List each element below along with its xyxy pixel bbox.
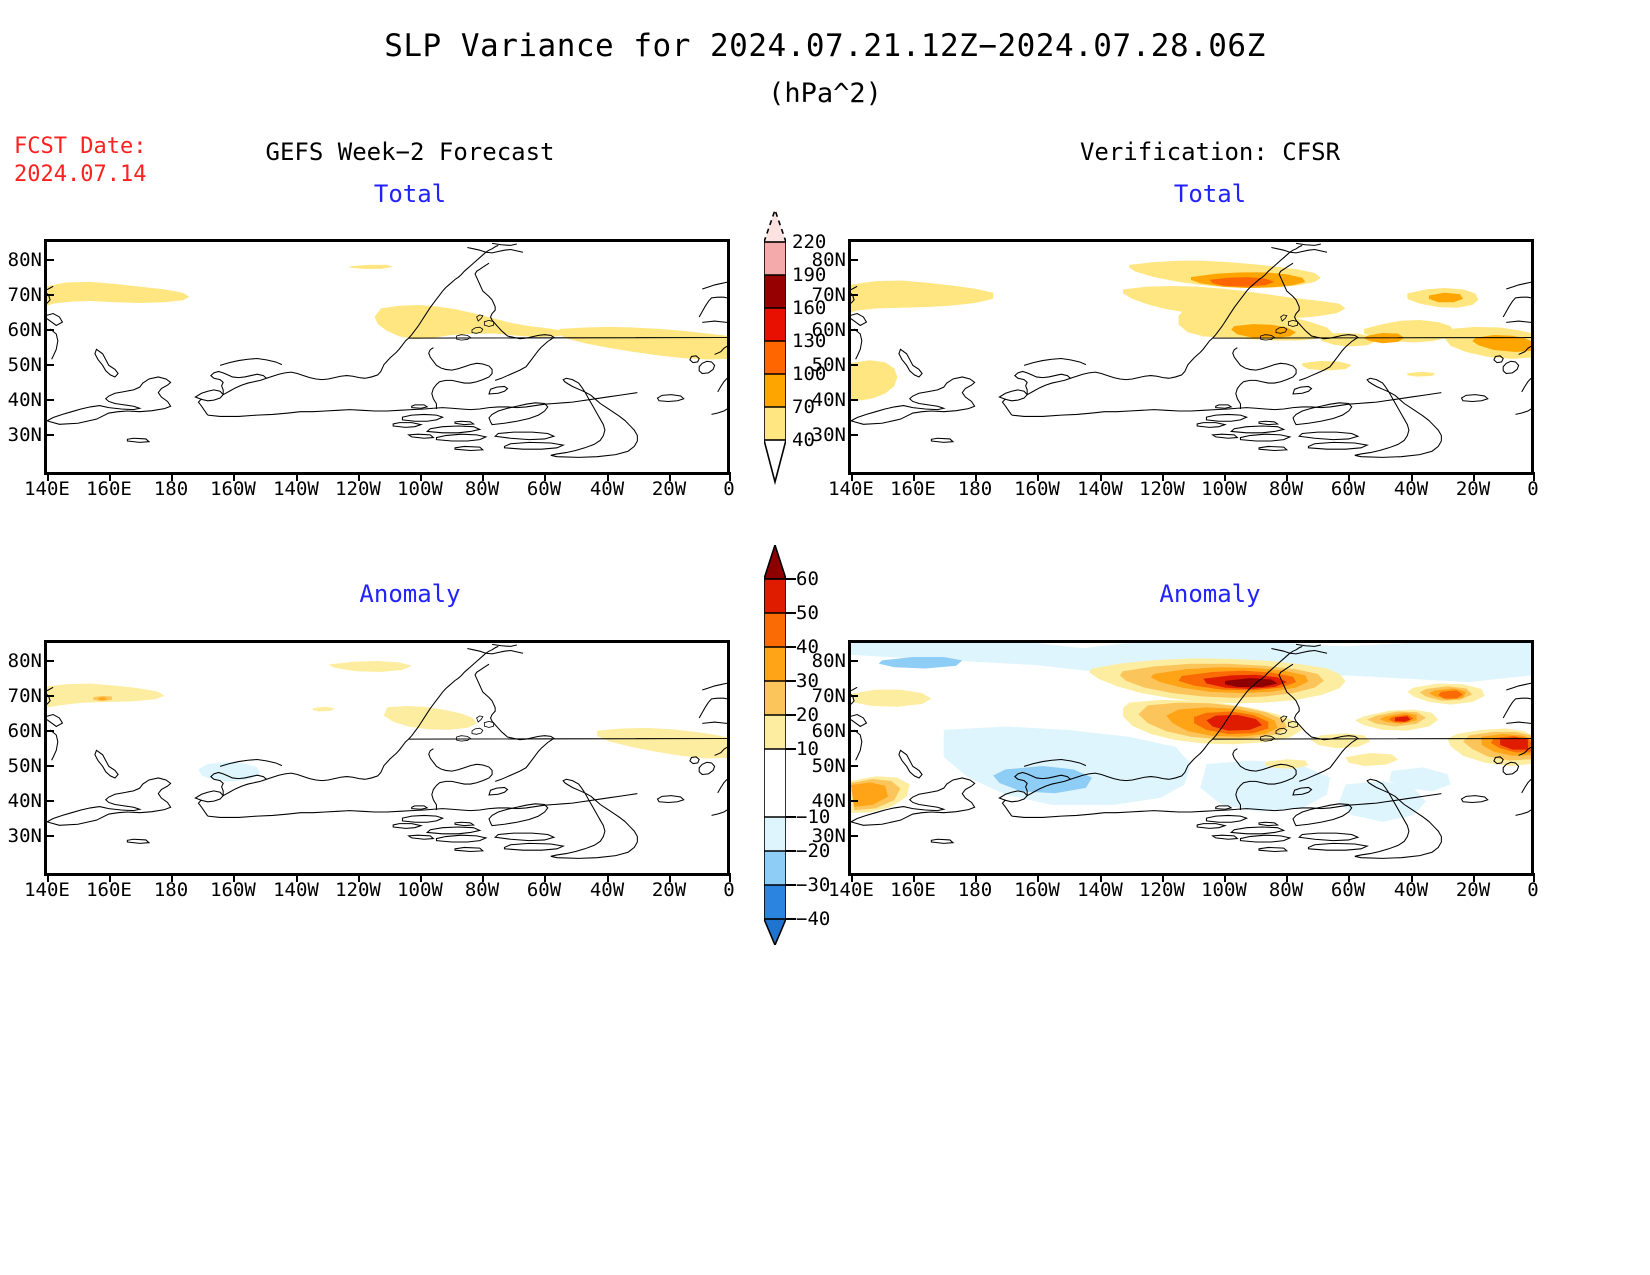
panel-label-gefs-anomaly: Anomaly bbox=[100, 580, 720, 608]
panel-label-gefs-total: Total bbox=[100, 180, 720, 208]
ytick-label: 50N bbox=[0, 354, 42, 376]
colorbar-tick-10: 10 bbox=[796, 738, 819, 760]
xtick-label: 0 bbox=[689, 478, 769, 500]
ytick-label: 30N bbox=[0, 825, 42, 847]
colorbar-tick-20: 20 bbox=[796, 704, 819, 726]
colorbar-tick-neg30: −30 bbox=[796, 874, 830, 896]
ytick-label: 80N bbox=[0, 249, 42, 271]
xtick-label: 0 bbox=[689, 879, 769, 901]
ytick-label: 80N bbox=[0, 650, 42, 672]
colorbar-tick-neg20: −20 bbox=[796, 840, 830, 862]
panel-label-cfsr-total: Total bbox=[900, 180, 1520, 208]
map-panel-gefs-anomaly[interactable] bbox=[44, 640, 730, 876]
colorbar-tick-160: 160 bbox=[792, 297, 826, 319]
anomaly-colorbar[interactable]: 60 50 40 30 20 10 −10 −20 −30 −40 bbox=[764, 545, 786, 945]
ytick-label: 30N bbox=[0, 424, 42, 446]
map-panel-cfsr-anomaly[interactable] bbox=[848, 640, 1534, 876]
left-column-title: GEFS Week−2 Forecast bbox=[100, 138, 720, 166]
colorbar-tick-190: 190 bbox=[792, 264, 826, 286]
colorbar-tick-60: 60 bbox=[796, 568, 819, 590]
colorbar-tick-70: 70 bbox=[792, 396, 815, 418]
ytick-label: 60N bbox=[0, 720, 42, 742]
ytick-label: 70N bbox=[0, 685, 42, 707]
colorbar-tick-neg40: −40 bbox=[796, 908, 830, 930]
colorbar-tick-neg10: −10 bbox=[796, 806, 830, 828]
colorbar-tick-30: 30 bbox=[796, 670, 819, 692]
panel-label-cfsr-anomaly: Anomaly bbox=[900, 580, 1520, 608]
right-column-title: Verification: CFSR bbox=[900, 138, 1520, 166]
ytick-label: 40N bbox=[0, 389, 42, 411]
xtick-label: 0 bbox=[1493, 478, 1573, 500]
colorbar-tick-50: 50 bbox=[796, 602, 819, 624]
ytick-label: 60N bbox=[0, 319, 42, 341]
page-title: SLP Variance for 2024.07.21.12Z−2024.07.… bbox=[0, 28, 1650, 64]
units-subtitle: (hPa^2) bbox=[0, 78, 1650, 109]
colorbar-tick-100: 100 bbox=[792, 363, 826, 385]
colorbar-tick-40: 40 bbox=[796, 636, 819, 658]
map-panel-cfsr-total[interactable] bbox=[848, 239, 1534, 475]
colorbar-tick-40: 40 bbox=[792, 429, 815, 451]
total-colorbar[interactable]: 220 190 160 130 100 70 40 bbox=[764, 210, 786, 500]
colorbar-tick-220: 220 bbox=[792, 231, 826, 253]
xtick-label: 0 bbox=[1493, 879, 1573, 901]
map-panel-gefs-total[interactable] bbox=[44, 239, 730, 475]
ytick-label: 40N bbox=[0, 790, 42, 812]
ytick-label: 70N bbox=[0, 284, 42, 306]
ytick-label: 50N bbox=[0, 755, 42, 777]
colorbar-tick-130: 130 bbox=[792, 330, 826, 352]
